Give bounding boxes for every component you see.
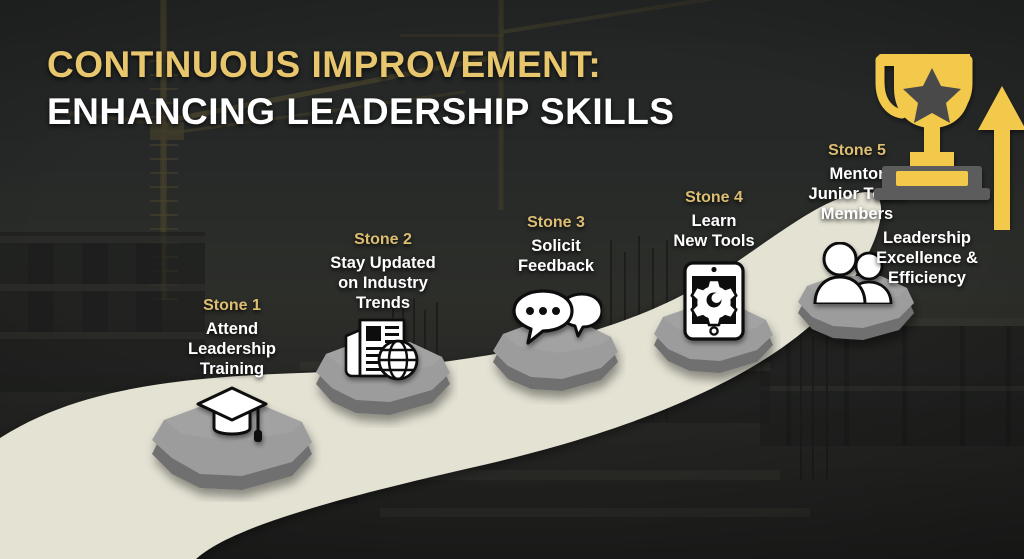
goal-block[interactable]: Leadership Excellence & Efficiency bbox=[840, 40, 1024, 310]
newspaper-globe-glyph bbox=[340, 314, 426, 384]
step-2-label-line-2: on Industry bbox=[283, 273, 483, 293]
graduation-cap-icon bbox=[192, 380, 272, 457]
step-1-label-line-1: Attend bbox=[132, 319, 332, 339]
goal-label-line-3: Efficiency bbox=[832, 268, 1022, 288]
step-2-label-line-3: Trends bbox=[283, 293, 483, 313]
step-2-caption: Stone 2 Stay Updated on Industry Trends bbox=[283, 230, 483, 313]
tablet-gear-icon bbox=[682, 260, 746, 347]
title-block: CONTINUOUS IMPROVEMENT: ENHANCING LEADER… bbox=[47, 44, 675, 133]
speech-bubbles-icon bbox=[510, 289, 602, 358]
step-2-label: Stay Updated on Industry Trends bbox=[283, 253, 483, 313]
trophy-arrow-group bbox=[840, 40, 1024, 230]
step-1-label-line-2: Leadership bbox=[132, 339, 332, 359]
title-line-primary: CONTINUOUS IMPROVEMENT: bbox=[47, 44, 675, 85]
step-2-index: Stone 2 bbox=[283, 230, 483, 250]
speech-bubbles-glyph bbox=[510, 289, 602, 353]
tablet-gear-glyph bbox=[682, 260, 746, 342]
step-1-label-line-3: Training bbox=[132, 359, 332, 379]
title-line-secondary: ENHANCING LEADERSHIP SKILLS bbox=[47, 91, 675, 132]
goal-label-line-2: Excellence & bbox=[832, 248, 1022, 268]
step-4-label-line-2: New Tools bbox=[614, 231, 814, 251]
infographic-canvas: CONTINUOUS IMPROVEMENT: ENHANCING LEADER… bbox=[0, 0, 1024, 559]
up-arrow-icon bbox=[978, 86, 1024, 230]
goal-caption: Leadership Excellence & Efficiency bbox=[832, 228, 1022, 288]
step-2-label-line-1: Stay Updated bbox=[283, 253, 483, 273]
goal-label-line-1: Leadership bbox=[832, 228, 1022, 248]
graduation-cap-glyph bbox=[192, 380, 272, 452]
step-1-label: Attend Leadership Training bbox=[132, 319, 332, 379]
trophy-icon bbox=[874, 54, 990, 200]
step-3-label-line-2: Feedback bbox=[456, 256, 656, 276]
newspaper-globe-icon bbox=[340, 314, 426, 389]
